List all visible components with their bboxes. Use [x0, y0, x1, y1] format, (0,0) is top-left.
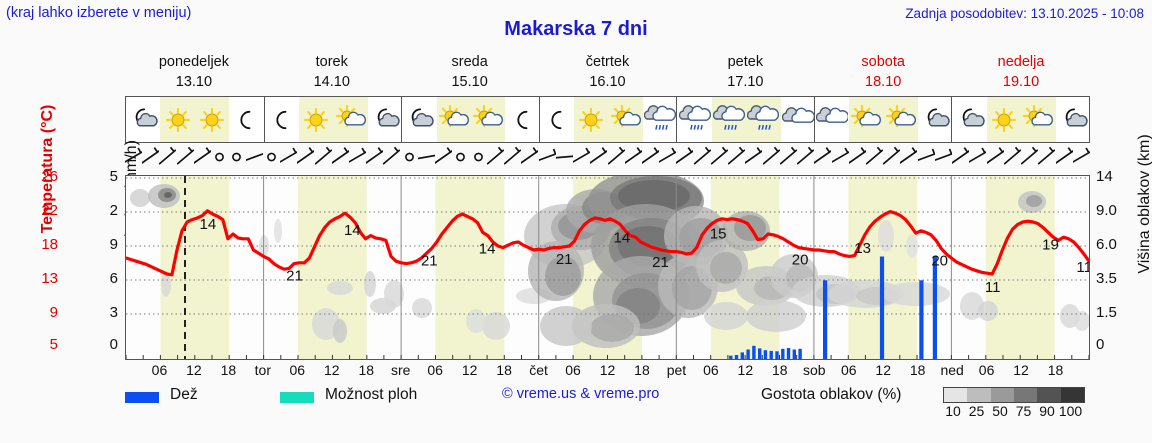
svg-text:13: 13	[854, 240, 871, 257]
wind-barb	[194, 143, 211, 175]
cloud-density-ramp-step-0	[944, 388, 967, 402]
wind-barb	[814, 143, 831, 175]
wind-barb-strip	[125, 143, 1090, 175]
temperature-axis-ticks: 2622181395	[28, 175, 58, 360]
wind-barb	[280, 143, 297, 175]
day-name: petek	[676, 52, 814, 72]
svg-text:11: 11	[985, 279, 1001, 296]
wind-barb	[452, 143, 469, 175]
x-tick-label: 12	[728, 362, 762, 378]
temperature-tick-4: 9	[28, 304, 58, 321]
temperature-tick-5: 5	[28, 336, 58, 353]
wind-barb	[159, 143, 176, 175]
cloud-rain-icon	[712, 97, 746, 142]
x-tick-label: 18	[487, 362, 521, 378]
x-tick-label: 12	[453, 362, 487, 378]
wind-barb	[625, 143, 642, 175]
wind-barb	[763, 143, 780, 175]
moon-icon	[229, 97, 263, 142]
icon-day-cell-4	[539, 97, 677, 142]
cloud-height-axis-ticks: 149.06.03.51.50	[1096, 175, 1136, 360]
x-tick-label: 18	[211, 362, 245, 378]
wind-barb	[435, 143, 452, 175]
cloud-density-tick-5: 100	[1058, 403, 1084, 419]
cloud-icon	[780, 97, 814, 142]
wind-barb	[228, 143, 245, 175]
sun-cloud-icon	[884, 97, 918, 142]
wind-barb	[918, 143, 935, 175]
cloud-density-color-ramp	[943, 387, 1085, 403]
cloud-height-tick-4: 1.5	[1096, 304, 1136, 321]
wind-barb	[694, 143, 711, 175]
cloud-height-tick-2: 6.0	[1096, 236, 1136, 253]
x-tick-label: pet	[659, 362, 693, 378]
day-header-row: ponedeljek13.10torek14.10sreda15.10četrt…	[125, 52, 1090, 95]
day-name: nedelja	[952, 52, 1090, 72]
svg-text:15: 15	[710, 225, 727, 242]
x-tick-label: 12	[315, 362, 349, 378]
wind-barb	[383, 143, 400, 175]
x-tick-label: 12	[866, 362, 900, 378]
x-axis-labels: 061218tor061218sre061218čet061218pet0612…	[125, 362, 1090, 382]
day-date: 15.10	[401, 72, 539, 92]
wind-barb	[745, 143, 762, 175]
day-date: 13.10	[125, 72, 263, 92]
svg-text:20: 20	[931, 252, 948, 269]
cloud-height-tick-0: 14	[1096, 168, 1136, 185]
cloud-density-tick-3: 75	[1011, 403, 1037, 419]
cloud-density-ramp-step-2	[991, 388, 1014, 402]
x-tick-label: 06	[694, 362, 728, 378]
temperature-tick-0: 26	[28, 168, 58, 185]
cloud-height-tick-5: 0	[1096, 336, 1136, 353]
wind-barb	[711, 143, 728, 175]
wind-barb	[401, 143, 418, 175]
cloud-height-tick-1: 9.0	[1096, 202, 1136, 219]
wind-barb	[315, 143, 332, 175]
x-tick-label: 06	[556, 362, 590, 378]
wind-barb	[866, 143, 883, 175]
cloud-density-tick-4: 90	[1034, 403, 1060, 419]
x-tick-label: sre	[384, 362, 418, 378]
wind-barb	[849, 143, 866, 175]
x-tick-label: 18	[625, 362, 659, 378]
moon-cloud-icon	[1056, 97, 1090, 142]
wind-barb	[246, 143, 263, 175]
sun-cloud-icon	[608, 97, 642, 142]
forecast-graph: 142114211421142115201320111911	[125, 175, 1090, 360]
wind-barb	[142, 143, 159, 175]
wind-barb	[969, 143, 986, 175]
sun-cloud-icon	[437, 97, 471, 142]
copyright-label[interactable]: © vreme.us & vreme.pro	[502, 386, 659, 402]
day-header-7: nedelja19.10	[952, 52, 1090, 92]
cloud-density-ramp-step-5	[1061, 388, 1084, 402]
moon-icon	[505, 97, 539, 142]
day-date: 14.10	[263, 72, 401, 92]
cloud-height-axis-title: Višina oblakov (km)	[1136, 104, 1152, 304]
wind-barb	[487, 143, 504, 175]
day-header-3: sreda15.10	[401, 52, 539, 92]
day-header-5: petek17.10	[676, 52, 814, 92]
wind-barb	[1021, 143, 1038, 175]
rain-legend-swatch	[125, 392, 159, 403]
moon-cloud-icon	[368, 97, 402, 142]
sun-cloud-icon	[471, 97, 505, 142]
cloud-rain-icon	[643, 97, 677, 142]
svg-text:21: 21	[556, 251, 573, 268]
cloud-density-tick-0: 10	[940, 403, 966, 419]
x-tick-label: tor	[246, 362, 280, 378]
moon-icon	[540, 97, 574, 142]
showers-legend-label: Možnost ploh	[325, 386, 417, 404]
wind-barb	[659, 143, 676, 175]
x-tick-label: ned	[935, 362, 969, 378]
sun-icon	[299, 97, 333, 142]
temperature-tick-3: 13	[28, 270, 58, 287]
wind-barb	[676, 143, 693, 175]
weather-icon-strip	[125, 96, 1090, 143]
svg-text:11: 11	[1076, 259, 1089, 276]
sun-cloud-icon	[849, 97, 883, 142]
rain-legend-label: Dež	[170, 386, 198, 404]
x-tick-label: 18	[1039, 362, 1073, 378]
x-tick-label: 06	[970, 362, 1004, 378]
cloud-density-tick-1: 25	[964, 403, 990, 419]
wind-barb	[780, 143, 797, 175]
day-date: 17.10	[676, 72, 814, 92]
wind-barb	[590, 143, 607, 175]
day-date: 16.10	[539, 72, 677, 92]
day-header-6: sobota18.10	[814, 52, 952, 92]
moon-icon	[265, 97, 299, 142]
wind-barb	[504, 143, 521, 175]
icon-day-cell-6	[814, 97, 952, 142]
wind-barb	[987, 143, 1004, 175]
moon-cloud-icon	[918, 97, 952, 142]
x-tick-label: 06	[832, 362, 866, 378]
svg-text:21: 21	[286, 268, 303, 285]
wind-barb	[211, 143, 228, 175]
wind-barb	[1038, 143, 1055, 175]
x-tick-label: 12	[177, 362, 211, 378]
graph-canvas: 142114211421142115201320111911	[126, 176, 1089, 359]
wind-barb	[297, 143, 314, 175]
svg-text:21: 21	[421, 252, 438, 269]
wind-barb	[573, 143, 590, 175]
day-name: sobota	[814, 52, 952, 72]
sun-icon	[987, 97, 1021, 142]
wind-barb	[418, 143, 435, 175]
cloud-rain-icon	[746, 97, 780, 142]
x-tick-label: sob	[797, 362, 831, 378]
wind-barb	[470, 143, 487, 175]
precipitation-tick-5: 0	[96, 336, 118, 353]
x-tick-label: 06	[280, 362, 314, 378]
svg-text:14: 14	[614, 229, 631, 246]
day-date: 19.10	[952, 72, 1090, 92]
wind-barb	[952, 143, 969, 175]
showers-legend-swatch	[280, 392, 314, 403]
wind-barb	[521, 143, 538, 175]
svg-text:14: 14	[344, 222, 361, 239]
last-updated-label: Zadnja posodobitev: 13.10.2025 - 10:08	[905, 6, 1144, 21]
cloud-height-tick-3: 3.5	[1096, 270, 1136, 287]
precipitation-tick-1: 2	[96, 202, 118, 219]
wind-barb	[797, 143, 814, 175]
day-header-1: ponedeljek13.10	[125, 52, 263, 92]
cloud-density-ramp-ticks: 1025507590100	[935, 403, 1095, 421]
cloud-icon	[815, 97, 849, 142]
svg-text:14: 14	[200, 216, 217, 233]
sun-icon	[160, 97, 194, 142]
wind-barb	[366, 143, 383, 175]
temperature-tick-2: 18	[28, 236, 58, 253]
wind-barb	[1073, 143, 1090, 175]
wind-barb	[539, 143, 556, 175]
page-title: Makarska 7 dni	[0, 18, 1152, 41]
cloud-density-ramp-step-4	[1037, 388, 1060, 402]
wind-barb	[1056, 143, 1073, 175]
wind-barb	[642, 143, 659, 175]
moon-cloud-icon	[952, 97, 986, 142]
precipitation-tick-4: 3	[96, 304, 118, 321]
icon-day-cell-3	[401, 97, 539, 142]
cloud-density-ramp-step-1	[967, 388, 990, 402]
x-tick-label: 06	[142, 362, 176, 378]
wind-barb	[900, 143, 917, 175]
wind-barb	[608, 143, 625, 175]
precipitation-tick-0: 5	[96, 168, 118, 185]
cloud-density-ramp-step-3	[1014, 388, 1037, 402]
svg-text:20: 20	[792, 252, 809, 269]
x-tick-label: čet	[522, 362, 556, 378]
wind-barb	[1004, 143, 1021, 175]
day-name: sreda	[401, 52, 539, 72]
icon-day-cell-5	[676, 97, 814, 142]
x-tick-label: 12	[1004, 362, 1038, 378]
icon-day-cell-2	[264, 97, 402, 142]
temperature-tick-1: 22	[28, 202, 58, 219]
wind-barb	[832, 143, 849, 175]
x-tick-label: 06	[418, 362, 452, 378]
precipitation-tick-3: 6	[96, 270, 118, 287]
day-header-2: torek14.10	[263, 52, 401, 92]
icon-day-cell-1	[126, 97, 264, 142]
svg-text:14: 14	[479, 241, 496, 258]
moon-cloud-icon	[402, 97, 436, 142]
icon-day-cell-7	[951, 97, 1089, 142]
sun-icon	[574, 97, 608, 142]
x-tick-label: 12	[591, 362, 625, 378]
x-tick-label: 18	[901, 362, 935, 378]
svg-text:21: 21	[652, 254, 669, 271]
wind-barb	[556, 143, 573, 175]
wind-barb	[883, 143, 900, 175]
precipitation-axis-ticks: 529630	[96, 175, 118, 360]
sun-icon	[195, 97, 229, 142]
chart-legend: Dež Možnost ploh © vreme.us & vreme.pro …	[125, 386, 1145, 432]
x-tick-label: 18	[763, 362, 797, 378]
wind-barb	[935, 143, 952, 175]
sun-cloud-icon	[333, 97, 367, 142]
day-name: torek	[263, 52, 401, 72]
day-name: ponedeljek	[125, 52, 263, 72]
wind-barb	[728, 143, 745, 175]
cloud-density-legend-label: Gostota oblakov (%)	[761, 386, 901, 404]
day-header-4: četrtek16.10	[539, 52, 677, 92]
day-date: 18.10	[814, 72, 952, 92]
cloud-density-tick-2: 50	[987, 403, 1013, 419]
wind-barb	[263, 143, 280, 175]
svg-text:19: 19	[1042, 236, 1059, 253]
wind-barb	[349, 143, 366, 175]
wind-barb	[177, 143, 194, 175]
precipitation-tick-2: 9	[96, 236, 118, 253]
cloud-rain-icon	[677, 97, 711, 142]
x-tick-label: 18	[349, 362, 383, 378]
sun-cloud-icon	[1021, 97, 1055, 142]
day-name: četrtek	[539, 52, 677, 72]
wind-barb	[332, 143, 349, 175]
